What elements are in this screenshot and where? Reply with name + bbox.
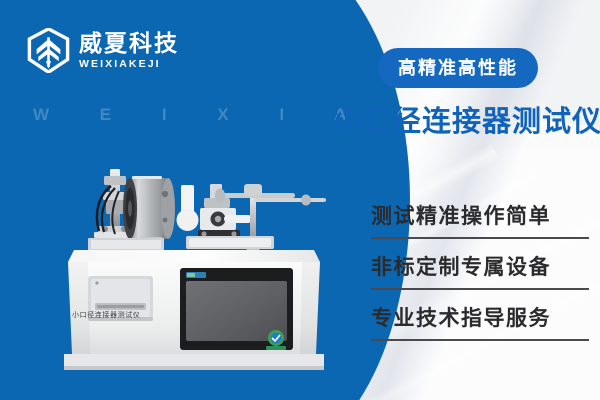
feature-divider [371, 288, 589, 290]
feature-list: 测试精准操作简单 非标定制专属设备 专业技术指导服务 [371, 200, 589, 353]
brand-logo[interactable]: 威夏科技 WEIXIAKEJI [27, 28, 179, 73]
brand-logo-text: 威夏科技 WEIXIAKEJI [79, 32, 179, 70]
list-item: 非标定制专属设备 [371, 251, 589, 290]
center-fixture-assembly [177, 184, 253, 238]
feature-text: 非标定制专属设备 [371, 251, 589, 288]
product-title: 小口径连接器测试仪 [332, 98, 600, 140]
product-image [58, 158, 330, 383]
product-nameplate: 小口径连接器测试仪 [72, 310, 140, 320]
promo-banner: 威夏科技 WEIXIAKEJI W E I X I A K E 高精准高性能 小… [0, 0, 600, 400]
feature-text: 专业技术指导服务 [371, 302, 589, 339]
deck-trays [88, 236, 274, 251]
hexagon-arrow-logo-icon [27, 28, 70, 73]
brand-name-en: WEIXIAKEJI [79, 59, 179, 70]
feature-badge: 高精准高性能 [378, 48, 538, 88]
feature-divider [371, 339, 589, 341]
list-item: 测试精准操作简单 [371, 200, 589, 239]
brand-name-cn: 威夏科技 [79, 32, 179, 55]
feature-divider [371, 237, 589, 239]
list-item: 专业技术指导服务 [371, 302, 589, 341]
drum-wheel-assembly [123, 176, 175, 244]
feature-text: 测试精准操作简单 [371, 200, 589, 237]
